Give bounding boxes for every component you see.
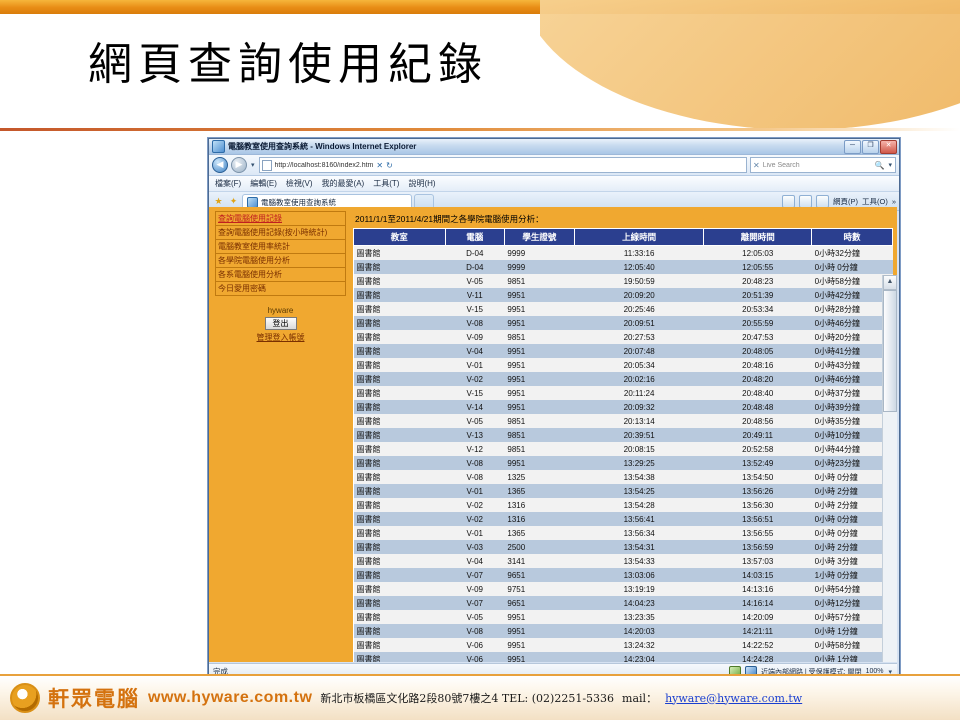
table-cell-logout-time: 20:51:39 bbox=[704, 288, 812, 302]
logged-in-user: hyware bbox=[215, 306, 346, 315]
table-cell-duration: 0小時10分鐘 bbox=[812, 428, 893, 442]
table-row: 圖書館V-11995120:09:2020:51:390小時42分鐘 bbox=[354, 288, 893, 302]
table-row: 圖書館V-05985119:50:5920:48:230小時58分鐘 bbox=[354, 274, 893, 288]
table-cell-room: 圖書館 bbox=[354, 512, 446, 526]
table-cell-computer: V-07 bbox=[445, 568, 504, 582]
browser-window-title: 電腦教室使用查詢系統 - Windows Internet Explorer bbox=[228, 141, 844, 152]
table-row: 圖書館V-08132513:54:3813:54:500小時 0分鐘 bbox=[354, 470, 893, 484]
table-cell-login-time: 20:02:16 bbox=[574, 372, 703, 386]
table-cell-login-time: 14:23:04 bbox=[574, 652, 703, 662]
browser-titlebar: 電腦教室使用查詢系統 - Windows Internet Explorer ─… bbox=[209, 139, 899, 155]
table-cell-student-id: 9951 bbox=[504, 358, 574, 372]
table-cell-computer: V-05 bbox=[445, 414, 504, 428]
table-cell-login-time: 13:24:32 bbox=[574, 638, 703, 652]
table-cell-logout-time: 13:56:59 bbox=[704, 540, 812, 554]
table-cell-computer: V-05 bbox=[445, 274, 504, 288]
table-cell-login-time: 20:09:51 bbox=[574, 316, 703, 330]
table-cell-computer: V-08 bbox=[445, 456, 504, 470]
table-row: 圖書館V-12985120:08:1520:52:580小時44分鐘 bbox=[354, 442, 893, 456]
overflow-icon[interactable]: » bbox=[892, 197, 896, 206]
table-cell-room: 圖書館 bbox=[354, 484, 446, 498]
table-cell-logout-time: 13:56:55 bbox=[704, 526, 812, 540]
table-cell-computer: V-15 bbox=[445, 302, 504, 316]
browser-window: 電腦教室使用查詢系統 - Windows Internet Explorer ─… bbox=[208, 138, 900, 680]
table-cell-student-id: 1365 bbox=[504, 484, 574, 498]
table-cell-duration: 0小時 3分鐘 bbox=[812, 554, 893, 568]
browser-navigation-bar: ◀ ▶ ▾ http://localhost:8160/index2.htm ✕… bbox=[209, 155, 899, 176]
tools-menu-button[interactable]: 工具(O) bbox=[862, 196, 888, 207]
table-cell-duration: 0小時 1分鐘 bbox=[812, 624, 893, 638]
stop-icon[interactable]: ✕ bbox=[376, 161, 383, 170]
table-cell-logout-time: 20:48:23 bbox=[704, 274, 812, 288]
table-cell-login-time: 20:11:24 bbox=[574, 386, 703, 400]
table-row: 圖書館V-08995114:20:0314:21:110小時 1分鐘 bbox=[354, 624, 893, 638]
scrollbar-thumb[interactable] bbox=[883, 290, 897, 412]
table-cell-computer: V-06 bbox=[445, 638, 504, 652]
table-cell-login-time: 11:33:16 bbox=[574, 246, 703, 261]
search-chevron-down-icon[interactable]: ▾ bbox=[887, 161, 893, 169]
table-cell-student-id: 1316 bbox=[504, 512, 574, 526]
table-cell-logout-time: 20:53:34 bbox=[704, 302, 812, 316]
forward-icon[interactable]: ▶ bbox=[231, 157, 247, 173]
scroll-up-icon[interactable]: ▲ bbox=[883, 275, 897, 290]
table-cell-logout-time: 14:13:16 bbox=[704, 582, 812, 596]
table-row: 圖書館V-07965114:04:2314:16:140小時12分鐘 bbox=[354, 596, 893, 610]
table-cell-student-id: 1316 bbox=[504, 498, 574, 512]
table-row: 圖書館V-04314113:54:3313:57:030小時 3分鐘 bbox=[354, 554, 893, 568]
table-cell-computer: V-01 bbox=[445, 484, 504, 498]
table-cell-login-time: 13:54:28 bbox=[574, 498, 703, 512]
table-cell-computer: V-03 bbox=[445, 540, 504, 554]
table-cell-duration: 0小時43分鐘 bbox=[812, 358, 893, 372]
table-cell-login-time: 13:29:25 bbox=[574, 456, 703, 470]
page-vertical-scrollbar[interactable]: ▲ ▼ bbox=[882, 275, 897, 662]
table-cell-duration: 0小時 0分鐘 bbox=[812, 526, 893, 540]
table-cell-room: 圖書館 bbox=[354, 386, 446, 400]
back-icon[interactable]: ◀ bbox=[212, 157, 228, 173]
table-cell-login-time: 20:27:53 bbox=[574, 330, 703, 344]
table-cell-student-id: 9851 bbox=[504, 330, 574, 344]
favorites-icon[interactable]: ✦ bbox=[228, 196, 239, 207]
table-cell-login-time: 20:05:34 bbox=[574, 358, 703, 372]
table-row: 圖書館V-04995120:07:4820:48:050小時41分鐘 bbox=[354, 344, 893, 358]
table-cell-login-time: 13:19:19 bbox=[574, 582, 703, 596]
table-cell-login-time: 20:13:14 bbox=[574, 414, 703, 428]
table-cell-duration: 0小時 2分鐘 bbox=[812, 484, 893, 498]
table-cell-room: 圖書館 bbox=[354, 610, 446, 624]
table-cell-room: 圖書館 bbox=[354, 554, 446, 568]
slide-divider-line bbox=[0, 128, 960, 131]
table-cell-duration: 0小時 2分鐘 bbox=[812, 540, 893, 554]
table-cell-room: 圖書館 bbox=[354, 596, 446, 610]
table-cell-student-id: 9951 bbox=[504, 400, 574, 414]
table-cell-room: 圖書館 bbox=[354, 288, 446, 302]
sidebar-item-lab-utilization[interactable]: 電腦教室使用率統計 bbox=[216, 240, 345, 254]
table-cell-room: 圖書館 bbox=[354, 624, 446, 638]
table-cell-computer: V-04 bbox=[445, 554, 504, 568]
table-cell-logout-time: 14:24:28 bbox=[704, 652, 812, 662]
table-cell-login-time: 13:56:41 bbox=[574, 512, 703, 526]
table-cell-logout-time: 20:52:58 bbox=[704, 442, 812, 456]
table-cell-computer: V-15 bbox=[445, 386, 504, 400]
table-cell-duration: 0小時37分鐘 bbox=[812, 386, 893, 400]
table-cell-student-id: 9951 bbox=[504, 288, 574, 302]
sidebar-footer: hyware 登出 管理登入帳號 bbox=[215, 306, 346, 343]
table-row: 圖書館V-05985120:13:1420:48:560小時35分鐘 bbox=[354, 414, 893, 428]
table-row: 圖書館V-01995120:05:3420:48:160小時43分鐘 bbox=[354, 358, 893, 372]
table-row: 圖書館D-04999911:33:1612:05:030小時32分鐘 bbox=[354, 246, 893, 261]
sidebar-menu: 查詢電腦使用記錄 查詢電腦使用記錄(按小時統計) 電腦教室使用率統計 各學院電腦… bbox=[215, 211, 346, 296]
table-cell-room: 圖書館 bbox=[354, 358, 446, 372]
table-row: 圖書館V-03250013:54:3113:56:590小時 2分鐘 bbox=[354, 540, 893, 554]
menu-edit[interactable]: 編輯(E) bbox=[250, 178, 277, 189]
page-title: 網頁查詢使用紀錄 bbox=[88, 28, 788, 92]
table-row: 圖書館D-04999912:05:4012:05:550小時 0分鐘 bbox=[354, 260, 893, 274]
table-cell-login-time: 20:09:20 bbox=[574, 288, 703, 302]
report-caption: 2011/1/1至2011/4/21期間之各學院電腦使用分析： bbox=[355, 213, 893, 225]
column-header-login-time[interactable]: 上線時間 bbox=[574, 229, 703, 246]
chevron-down-icon[interactable]: ▾ bbox=[250, 161, 256, 169]
table-cell-computer: V-01 bbox=[445, 358, 504, 372]
sidebar-item-query-usage-log-hourly[interactable]: 查詢電腦使用記錄(按小時統計) bbox=[216, 226, 345, 240]
company-email-link[interactable]: hyware@hyware.com.tw bbox=[665, 692, 802, 705]
table-cell-logout-time: 20:47:53 bbox=[704, 330, 812, 344]
table-cell-logout-time: 20:48:20 bbox=[704, 372, 812, 386]
slide-footer-banner: 軒眾電腦 www.hyware.com.tw 新北市板橋區文化路2段80號7樓之… bbox=[0, 674, 960, 720]
table-cell-computer: V-06 bbox=[445, 652, 504, 662]
table-row: 圖書館V-09985120:27:5320:47:530小時20分鐘 bbox=[354, 330, 893, 344]
table-cell-computer: V-09 bbox=[445, 582, 504, 596]
table-cell-login-time: 13:56:34 bbox=[574, 526, 703, 540]
table-cell-logout-time: 13:52:49 bbox=[704, 456, 812, 470]
minimize-button[interactable]: ─ bbox=[844, 140, 861, 154]
table-cell-logout-time: 14:03:15 bbox=[704, 568, 812, 582]
menu-view[interactable]: 檢視(V) bbox=[286, 178, 313, 189]
table-cell-student-id: 9951 bbox=[504, 344, 574, 358]
table-cell-computer: V-08 bbox=[445, 624, 504, 638]
table-cell-computer: V-13 bbox=[445, 428, 504, 442]
table-cell-student-id: 1365 bbox=[504, 526, 574, 540]
table-cell-duration: 0小時20分鐘 bbox=[812, 330, 893, 344]
page-icon bbox=[262, 160, 272, 171]
table-cell-login-time: 13:54:33 bbox=[574, 554, 703, 568]
table-cell-duration: 0小時23分鐘 bbox=[812, 456, 893, 470]
table-row: 圖書館V-02131613:56:4113:56:510小時 0分鐘 bbox=[354, 512, 893, 526]
sidebar-item-college-analysis[interactable]: 各學院電腦使用分析 bbox=[216, 254, 345, 268]
table-cell-room: 圖書館 bbox=[354, 246, 446, 261]
usage-log-table: 教室 電腦 學生證號 上線時間 離開時間 時數 圖書館D-04999911:33… bbox=[353, 228, 893, 662]
table-cell-duration: 0小時35分鐘 bbox=[812, 414, 893, 428]
table-cell-room: 圖書館 bbox=[354, 400, 446, 414]
table-cell-room: 圖書館 bbox=[354, 568, 446, 582]
search-input[interactable]: Live Search bbox=[763, 162, 872, 169]
table-cell-room: 圖書館 bbox=[354, 638, 446, 652]
report-panel: 2011/1/1至2011/4/21期間之各學院電腦使用分析： 教室 電腦 學生… bbox=[349, 207, 897, 662]
sidebar-item-department-analysis[interactable]: 各系電腦使用分析 bbox=[216, 268, 345, 282]
table-cell-duration: 0小時46分鐘 bbox=[812, 316, 893, 330]
table-cell-duration: 0小時 0分鐘 bbox=[812, 260, 893, 274]
table-cell-computer: V-04 bbox=[445, 344, 504, 358]
company-logo-icon bbox=[10, 683, 40, 713]
company-name: 軒眾電腦 bbox=[48, 683, 140, 713]
table-cell-student-id: 9951 bbox=[504, 652, 574, 662]
table-cell-room: 圖書館 bbox=[354, 498, 446, 512]
table-cell-student-id: 9951 bbox=[504, 624, 574, 638]
table-cell-duration: 0小時28分鐘 bbox=[812, 302, 893, 316]
table-cell-duration: 0小時32分鐘 bbox=[812, 246, 893, 261]
table-cell-logout-time: 14:21:11 bbox=[704, 624, 812, 638]
table-cell-logout-time: 20:48:48 bbox=[704, 400, 812, 414]
table-row: 圖書館V-09975113:19:1914:13:160小時54分鐘 bbox=[354, 582, 893, 596]
browser-menubar: 檔案(F) 編輯(E) 檢視(V) 我的最愛(A) 工具(T) 說明(H) bbox=[209, 176, 899, 192]
table-cell-duration: 0小時 0分鐘 bbox=[812, 470, 893, 484]
table-cell-computer: D-04 bbox=[445, 260, 504, 274]
table-cell-login-time: 20:07:48 bbox=[574, 344, 703, 358]
table-cell-room: 圖書館 bbox=[354, 302, 446, 316]
search-icon[interactable]: 🔍 bbox=[875, 161, 885, 170]
table-cell-computer: V-09 bbox=[445, 330, 504, 344]
table-cell-room: 圖書館 bbox=[354, 344, 446, 358]
table-cell-duration: 0小時12分鐘 bbox=[812, 596, 893, 610]
table-cell-room: 圖書館 bbox=[354, 428, 446, 442]
table-cell-login-time: 13:54:25 bbox=[574, 484, 703, 498]
mail-label: mail： bbox=[622, 690, 657, 706]
sidebar-item-today-password[interactable]: 今日愛用密碼 bbox=[216, 282, 345, 295]
table-cell-duration: 0小時 2分鐘 bbox=[812, 498, 893, 512]
table-cell-computer: V-08 bbox=[445, 316, 504, 330]
table-cell-login-time: 20:08:15 bbox=[574, 442, 703, 456]
table-cell-computer: V-05 bbox=[445, 610, 504, 624]
table-cell-student-id: 2500 bbox=[504, 540, 574, 554]
table-cell-duration: 0小時 0分鐘 bbox=[812, 512, 893, 526]
table-row: 圖書館V-15995120:11:2420:48:400小時37分鐘 bbox=[354, 386, 893, 400]
table-cell-student-id: 9951 bbox=[504, 316, 574, 330]
table-cell-duration: 0小時44分鐘 bbox=[812, 442, 893, 456]
table-cell-computer: V-07 bbox=[445, 596, 504, 610]
table-cell-student-id: 9951 bbox=[504, 302, 574, 316]
table-cell-student-id: 9751 bbox=[504, 582, 574, 596]
menu-file[interactable]: 檔案(F) bbox=[215, 178, 241, 189]
table-cell-duration: 1小時 0分鐘 bbox=[812, 568, 893, 582]
table-cell-room: 圖書館 bbox=[354, 260, 446, 274]
table-cell-student-id: 3141 bbox=[504, 554, 574, 568]
table-cell-computer: V-12 bbox=[445, 442, 504, 456]
table-cell-logout-time: 20:48:40 bbox=[704, 386, 812, 400]
table-cell-student-id: 9851 bbox=[504, 442, 574, 456]
table-cell-computer: V-01 bbox=[445, 526, 504, 540]
logout-button[interactable]: 登出 bbox=[265, 317, 297, 330]
table-cell-login-time: 20:39:51 bbox=[574, 428, 703, 442]
table-cell-logout-time: 13:56:30 bbox=[704, 498, 812, 512]
table-cell-login-time: 13:03:06 bbox=[574, 568, 703, 582]
table-row: 圖書館V-06995113:24:3214:22:520小時58分鐘 bbox=[354, 638, 893, 652]
table-cell-student-id: 9999 bbox=[504, 246, 574, 261]
window-controls: ─ ❐ ✕ bbox=[844, 140, 897, 154]
table-cell-computer: D-04 bbox=[445, 246, 504, 261]
table-row: 圖書館V-07965113:03:0614:03:151小時 0分鐘 bbox=[354, 568, 893, 582]
table-cell-student-id: 9851 bbox=[504, 428, 574, 442]
table-cell-logout-time: 12:05:55 bbox=[704, 260, 812, 274]
table-cell-logout-time: 20:48:16 bbox=[704, 358, 812, 372]
company-address: 新北市板橋區文化路2段80號7樓之4 TEL: (02)2251-5336 bbox=[320, 690, 614, 706]
table-cell-login-time: 12:05:40 bbox=[574, 260, 703, 274]
table-cell-logout-time: 13:56:26 bbox=[704, 484, 812, 498]
table-cell-student-id: 9651 bbox=[504, 568, 574, 582]
table-cell-room: 圖書館 bbox=[354, 582, 446, 596]
table-cell-room: 圖書館 bbox=[354, 316, 446, 330]
table-cell-room: 圖書館 bbox=[354, 652, 446, 662]
manage-account-link[interactable]: 管理登入帳號 bbox=[215, 332, 346, 343]
add-favorite-icon[interactable]: ★ bbox=[213, 196, 224, 207]
page-menu-button[interactable]: 網頁(P) bbox=[833, 196, 858, 207]
menu-help[interactable]: 說明(H) bbox=[408, 178, 435, 189]
table-cell-computer: V-02 bbox=[445, 498, 504, 512]
table-cell-duration: 0小時58分鐘 bbox=[812, 274, 893, 288]
sidebar-item-query-usage-log[interactable]: 查詢電腦使用記錄 bbox=[216, 212, 345, 226]
table-cell-logout-time: 20:49:11 bbox=[704, 428, 812, 442]
table-cell-student-id: 9951 bbox=[504, 372, 574, 386]
company-website: www.hyware.com.tw bbox=[148, 689, 312, 707]
table-cell-room: 圖書館 bbox=[354, 274, 446, 288]
web-page-content: 查詢電腦使用記錄 查詢電腦使用記錄(按小時統計) 電腦教室使用率統計 各學院電腦… bbox=[209, 207, 897, 662]
table-cell-student-id: 9851 bbox=[504, 414, 574, 428]
table-cell-logout-time: 13:54:50 bbox=[704, 470, 812, 484]
table-cell-duration: 0小時42分鐘 bbox=[812, 288, 893, 302]
table-cell-login-time: 20:25:46 bbox=[574, 302, 703, 316]
site-sidebar: 查詢電腦使用記錄 查詢電腦使用記錄(按小時統計) 電腦教室使用率統計 各學院電腦… bbox=[209, 207, 349, 662]
table-cell-student-id: 9951 bbox=[504, 610, 574, 624]
table-cell-duration: 0小時58分鐘 bbox=[812, 638, 893, 652]
table-cell-computer: V-14 bbox=[445, 400, 504, 414]
table-cell-student-id: 9999 bbox=[504, 260, 574, 274]
table-cell-logout-time: 14:16:14 bbox=[704, 596, 812, 610]
table-row: 圖書館V-08995120:09:5120:55:590小時46分鐘 bbox=[354, 316, 893, 330]
table-cell-room: 圖書館 bbox=[354, 456, 446, 470]
table-row: 圖書館V-02995120:02:1620:48:200小時46分鐘 bbox=[354, 372, 893, 386]
table-cell-student-id: 9951 bbox=[504, 638, 574, 652]
column-header-duration[interactable]: 時數 bbox=[812, 229, 893, 246]
table-cell-room: 圖書館 bbox=[354, 526, 446, 540]
table-row: 圖書館V-08995113:29:2513:52:490小時23分鐘 bbox=[354, 456, 893, 470]
table-cell-computer: V-11 bbox=[445, 288, 504, 302]
maximize-button[interactable]: ❐ bbox=[862, 140, 879, 154]
table-cell-logout-time: 14:22:52 bbox=[704, 638, 812, 652]
table-cell-login-time: 13:54:38 bbox=[574, 470, 703, 484]
table-cell-login-time: 13:23:35 bbox=[574, 610, 703, 624]
column-header-student-id[interactable]: 學生證號 bbox=[504, 229, 574, 246]
table-cell-logout-time: 20:55:59 bbox=[704, 316, 812, 330]
table-cell-duration: 0小時54分鐘 bbox=[812, 582, 893, 596]
browser-app-icon bbox=[212, 140, 225, 153]
table-cell-duration: 0小時41分鐘 bbox=[812, 344, 893, 358]
table-cell-student-id: 9851 bbox=[504, 274, 574, 288]
table-cell-student-id: 9651 bbox=[504, 596, 574, 610]
address-bar-url[interactable]: http://localhost:8160/index2.htm bbox=[275, 162, 374, 169]
table-row: 圖書館V-15995120:25:4620:53:340小時28分鐘 bbox=[354, 302, 893, 316]
table-cell-duration: 0小時 1分鐘 bbox=[812, 652, 893, 662]
table-header-row: 教室 電腦 學生證號 上線時間 離開時間 時數 bbox=[354, 229, 893, 246]
table-row: 圖書館V-06995114:23:0414:24:280小時 1分鐘 bbox=[354, 652, 893, 662]
table-cell-logout-time: 13:56:51 bbox=[704, 512, 812, 526]
table-cell-room: 圖書館 bbox=[354, 414, 446, 428]
table-cell-logout-time: 12:05:03 bbox=[704, 246, 812, 261]
table-row: 圖書館V-14995120:09:3220:48:480小時39分鐘 bbox=[354, 400, 893, 414]
close-button[interactable]: ✕ bbox=[880, 140, 897, 154]
table-cell-duration: 0小時46分鐘 bbox=[812, 372, 893, 386]
table-cell-logout-time: 20:48:56 bbox=[704, 414, 812, 428]
menu-favorites[interactable]: 我的最愛(A) bbox=[322, 178, 365, 189]
table-row: 圖書館V-02131613:54:2813:56:300小時 2分鐘 bbox=[354, 498, 893, 512]
table-cell-logout-time: 14:20:09 bbox=[704, 610, 812, 624]
table-cell-room: 圖書館 bbox=[354, 540, 446, 554]
table-cell-student-id: 9951 bbox=[504, 386, 574, 400]
table-cell-room: 圖書館 bbox=[354, 330, 446, 344]
refresh-icon[interactable]: ↻ bbox=[386, 161, 393, 170]
table-row: 圖書館V-01136513:56:3413:56:550小時 0分鐘 bbox=[354, 526, 893, 540]
table-cell-room: 圖書館 bbox=[354, 470, 446, 484]
table-cell-room: 圖書館 bbox=[354, 442, 446, 456]
table-row: 圖書館V-01136513:54:2513:56:260小時 2分鐘 bbox=[354, 484, 893, 498]
column-header-logout-time[interactable]: 離開時間 bbox=[704, 229, 812, 246]
table-cell-computer: V-08 bbox=[445, 470, 504, 484]
table-cell-room: 圖書館 bbox=[354, 372, 446, 386]
usage-log-table-body: 圖書館D-04999911:33:1612:05:030小時32分鐘圖書館D-0… bbox=[354, 246, 893, 663]
table-cell-duration: 0小時39分鐘 bbox=[812, 400, 893, 414]
table-cell-login-time: 19:50:59 bbox=[574, 274, 703, 288]
column-header-computer[interactable]: 電腦 bbox=[445, 229, 504, 246]
table-cell-logout-time: 13:57:03 bbox=[704, 554, 812, 568]
table-cell-login-time: 13:54:31 bbox=[574, 540, 703, 554]
table-cell-duration: 0小時57分鐘 bbox=[812, 610, 893, 624]
table-cell-login-time: 20:09:32 bbox=[574, 400, 703, 414]
address-bar[interactable]: http://localhost:8160/index2.htm ✕ ↻ bbox=[259, 157, 747, 173]
table-cell-computer: V-02 bbox=[445, 512, 504, 526]
table-cell-logout-time: 20:48:05 bbox=[704, 344, 812, 358]
table-cell-student-id: 9951 bbox=[504, 456, 574, 470]
table-cell-login-time: 14:04:23 bbox=[574, 596, 703, 610]
menu-tools[interactable]: 工具(T) bbox=[373, 178, 399, 189]
table-cell-student-id: 1325 bbox=[504, 470, 574, 484]
search-box[interactable]: ✕ Live Search 🔍 ▾ bbox=[750, 157, 896, 173]
table-cell-computer: V-02 bbox=[445, 372, 504, 386]
table-row: 圖書館V-13985120:39:5120:49:110小時10分鐘 bbox=[354, 428, 893, 442]
table-row: 圖書館V-05995113:23:3514:20:090小時57分鐘 bbox=[354, 610, 893, 624]
table-cell-login-time: 14:20:03 bbox=[574, 624, 703, 638]
search-engine-icon: ✕ bbox=[753, 161, 760, 170]
column-header-room[interactable]: 教室 bbox=[354, 229, 446, 246]
